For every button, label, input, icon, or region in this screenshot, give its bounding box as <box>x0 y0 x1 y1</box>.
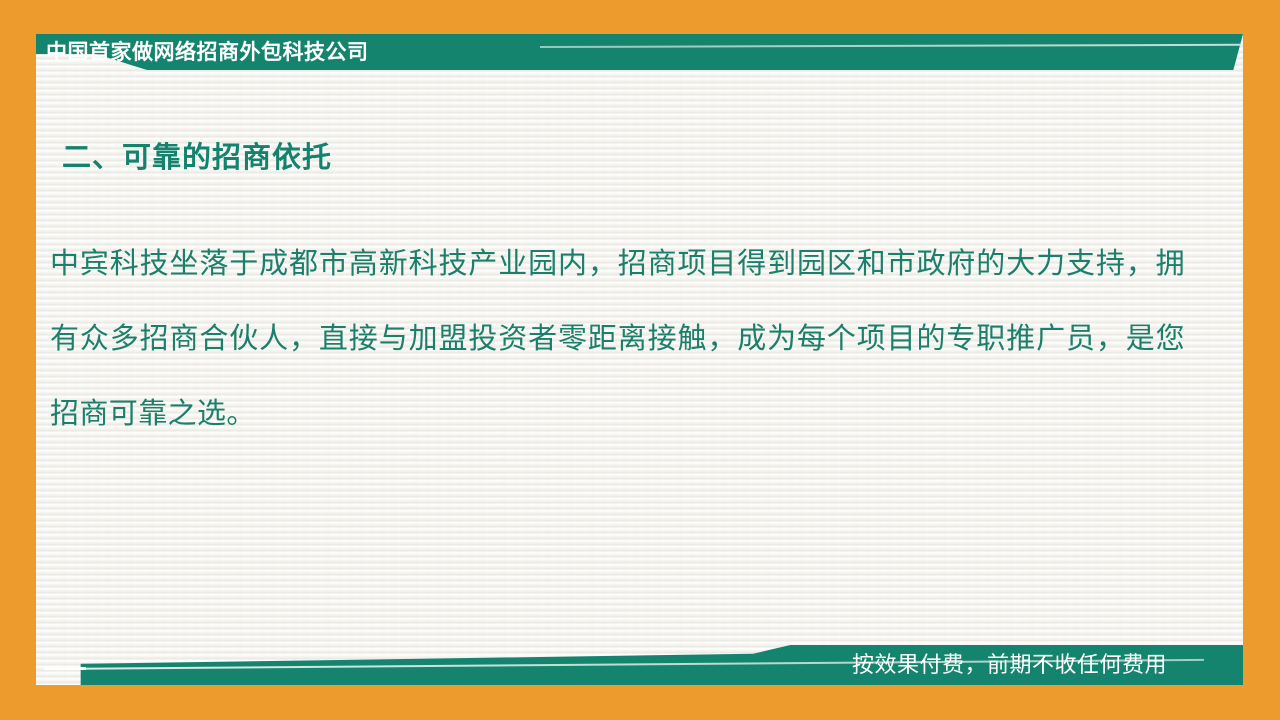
section-heading: 二、可靠的招商依托 <box>62 134 332 176</box>
footer-dash-decoration <box>44 667 86 670</box>
presentation-slide: 中国首家做网络招商外包科技公司 二、可靠的招商依托 中宾科技坐落于成都市高新科技… <box>0 0 1280 720</box>
header-title: 中国首家做网络招商外包科技公司 <box>46 38 369 68</box>
body-paragraph: 中宾科技坐落于成都市高新科技产业园内，招商项目得到园区和市政府的大力支持，拥有众… <box>50 226 1185 451</box>
footer-tagline: 按效果付费，前期不收任何费用 <box>852 648 1167 682</box>
